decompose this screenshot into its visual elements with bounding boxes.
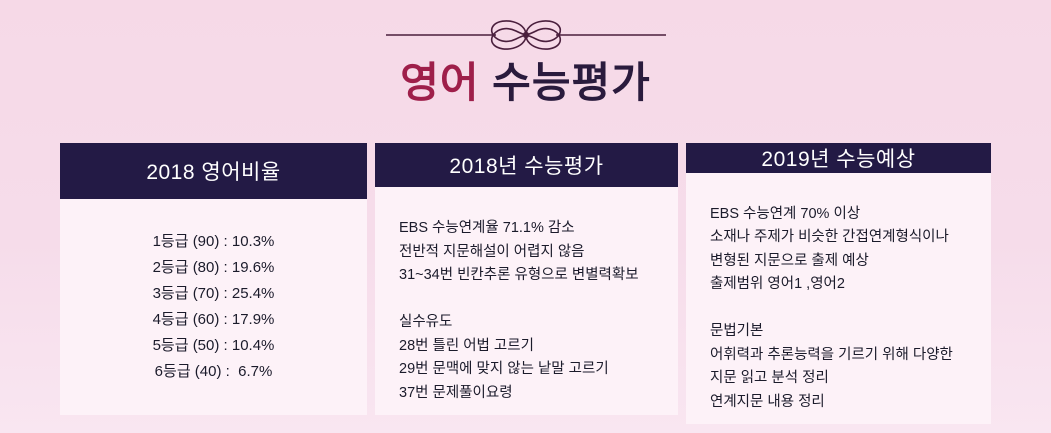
panel-header: 2018 영어비율 <box>60 143 367 199</box>
list-item: 6등급 (40) : 6.7% <box>60 359 367 385</box>
spacer-line <box>710 297 973 320</box>
list-item: 3등급 (70) : 25.4% <box>60 281 367 307</box>
list-item: 5등급 (50) : 10.4% <box>60 333 367 359</box>
panel-header: 2019년 수능예상 <box>686 143 991 173</box>
list-item: 2등급 (80) : 19.6% <box>60 255 367 281</box>
page-title: 영어 수능평가 <box>0 60 1051 106</box>
list-item: 연계지문 내용 정리 <box>710 391 973 414</box>
spacer-line <box>399 288 660 311</box>
list-item: 변형된 지문으로 출제 예상 <box>710 250 973 273</box>
list-item: EBS 수능연계 70% 이상 <box>710 203 973 226</box>
page-title-rest: 수능평가 <box>480 59 651 106</box>
list-item: 31~34번 빈칸추론 유형으로 변별력확보 <box>399 264 660 287</box>
panel-body-evaluation-2018: EBS 수능연계율 71.1% 감소 전반적 지문해설이 어렵지 않음 31~3… <box>375 187 678 415</box>
list-item: 소재나 주제가 비슷한 간접연계형식이나 <box>710 226 973 249</box>
poster-root: 영어 수능평가 2018 영어비율 1등급 (90) : 10.3% 2등급 (… <box>0 0 1051 433</box>
list-item: 출제범위 영어1 ,영어2 <box>710 273 973 296</box>
panel-evaluation-2018: 2018년 수능평가 EBS 수능연계율 71.1% 감소 전반적 지문해설이 … <box>375 143 678 415</box>
panel-english-ratio-2018: 2018 영어비율 1등급 (90) : 10.3% 2등급 (80) : 19… <box>60 143 367 415</box>
page-title-accent: 영어 <box>400 59 479 106</box>
list-item: EBS 수능연계율 71.1% 감소 <box>399 217 660 240</box>
list-item: 29번 문맥에 맞지 않는 낱말 고르기 <box>399 358 660 381</box>
list-item: 문법기본 <box>710 320 973 343</box>
list-item: 지문 읽고 분석 정리 <box>710 367 973 390</box>
panel-forecast-2019: 2019년 수능예상 EBS 수능연계 70% 이상 소재나 주제가 비슷한 간… <box>686 143 991 415</box>
list-item: 4등급 (60) : 17.9% <box>60 307 367 333</box>
panel-body-grade-list: 1등급 (90) : 10.3% 2등급 (80) : 19.6% 3등급 (7… <box>60 199 367 415</box>
list-item: 37번 문제풀이요령 <box>399 382 660 405</box>
list-item: 28번 틀린 어법 고르기 <box>399 335 660 358</box>
panel-group: 2018 영어비율 1등급 (90) : 10.3% 2등급 (80) : 19… <box>60 143 991 415</box>
list-item: 어휘력과 추론능력을 기르기 위해 다양한 <box>710 344 973 367</box>
panel-header: 2018년 수능평가 <box>375 143 678 187</box>
list-item: 1등급 (90) : 10.3% <box>60 229 367 255</box>
list-item: 실수유도 <box>399 311 660 334</box>
panel-body-forecast-2019: EBS 수능연계 70% 이상 소재나 주제가 비슷한 간접연계형식이나 변형된… <box>686 173 991 424</box>
list-item: 전반적 지문해설이 어렵지 않음 <box>399 241 660 264</box>
flourish-divider-ornament <box>0 14 1051 56</box>
